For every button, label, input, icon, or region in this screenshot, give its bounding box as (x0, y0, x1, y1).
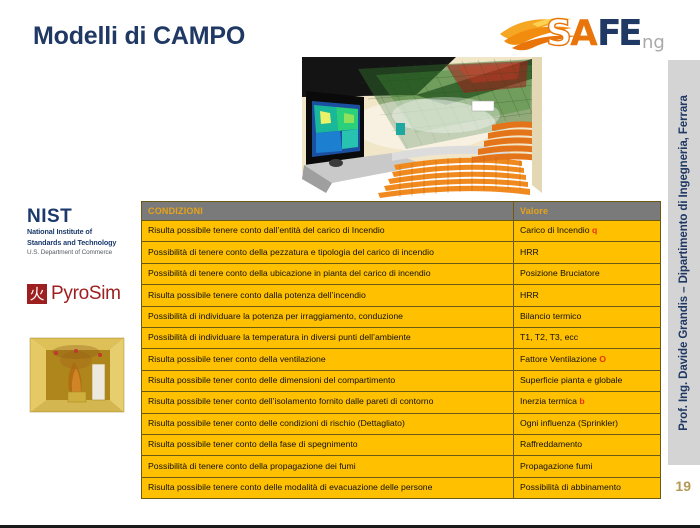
cell-condizione: Risulta possibile tener conto delle dime… (142, 370, 514, 391)
cell-valore: Possibilità di abbinamento (514, 477, 661, 498)
cell-valore: Superficie pianta e globale (514, 370, 661, 391)
page-title: Modelli di CAMPO (33, 22, 245, 51)
table-row: Risulta possibile tener conto delle dime… (142, 370, 661, 391)
nist-subtitle-line1: National Institute of (27, 228, 139, 237)
nist-subtitle-line2: Standards and Technology (27, 239, 139, 248)
value-highlight: O (599, 354, 606, 364)
svg-text:S: S (546, 13, 572, 54)
value-highlight: b (579, 396, 584, 406)
cell-valore: HRR (514, 285, 661, 306)
table-row: Risulta possibile tenere conto delle mod… (142, 477, 661, 498)
table-row: Risulta possibile tener conto delle cond… (142, 413, 661, 434)
table-row: Possibilità di individuare la potenza pe… (142, 306, 661, 327)
cell-condizione: Possibilità di tenere conto della pezzat… (142, 242, 514, 263)
safe-logo: S A F E ng (498, 8, 670, 54)
cell-valore: Raffreddamento (514, 434, 661, 455)
cell-valore: Carico di Incendio q (514, 221, 661, 242)
table-row: Risulta possibile tener conto della fase… (142, 434, 661, 455)
value-highlight: q (592, 225, 597, 235)
cell-condizione: Risulta possibile tener conto delle cond… (142, 413, 514, 434)
cell-valore: HRR (514, 242, 661, 263)
pyrosim-wordmark: PyroSim (51, 283, 121, 305)
cell-condizione: Risulta possibile tener conto della fase… (142, 434, 514, 455)
svg-text:A: A (570, 13, 598, 54)
author-credit-text: Prof. Ing. Davide Grandis – Dipartimento… (678, 95, 690, 431)
fire-glyph-icon: 火 (27, 284, 47, 304)
nist-wordmark: NIST (27, 207, 139, 226)
column-header-condizioni: CONDIZIONI (142, 202, 514, 221)
nist-subtitle-line3: U.S. Department of Commerce (27, 249, 139, 257)
safe-wordmark: S A F E ng (546, 13, 665, 54)
svg-text:E: E (618, 13, 643, 54)
cell-valore: Bilancio termico (514, 306, 661, 327)
cell-condizione: Risulta possibile tenere conto delle mod… (142, 477, 514, 498)
pyrosim-logo: 火 PyroSim (27, 283, 121, 305)
cell-valore: Inerzia termica b (514, 392, 661, 413)
cell-condizione: Possibilità di individuare la temperatur… (142, 327, 514, 348)
cell-condizione: Risulta possibile tener conto dell’isola… (142, 392, 514, 413)
table-row: Possibilità di tenere conto della pezzat… (142, 242, 661, 263)
cell-condizione: Possibilità di tenere conto della propag… (142, 456, 514, 477)
table-row: Possibilità di tenere conto della propag… (142, 456, 661, 477)
table-row: Risulta possibile tenere conto dall’enti… (142, 221, 661, 242)
table-row: Risulta possibile tener conto dell’isola… (142, 392, 661, 413)
svg-text:ng: ng (642, 32, 665, 53)
cell-valore: T1, T2, T3, ecc (514, 327, 661, 348)
table-row: Possibilità di tenere conto della ubicaz… (142, 263, 661, 284)
conditions-table: CONDIZIONI Valore Risulta possibile tene… (141, 201, 661, 499)
auditorium-simulation-image (296, 53, 544, 199)
cell-condizione: Possibilità di tenere conto della ubicaz… (142, 263, 514, 284)
cell-valore: Fattore Ventilazione O (514, 349, 661, 370)
cell-condizione: Risulta possibile tenere conto dall’enti… (142, 221, 514, 242)
cell-condizione: Risulta possibile tener conto della vent… (142, 349, 514, 370)
page-number: 19 (675, 478, 691, 494)
table-row: Possibilità di individuare la temperatur… (142, 327, 661, 348)
table-row: Risulta possibile tener conto della vent… (142, 349, 661, 370)
cell-valore: Propagazione fumi (514, 456, 661, 477)
cell-condizione: Risulta possibile tenere conto dalla pot… (142, 285, 514, 306)
column-header-valore: Valore (514, 202, 661, 221)
author-sidebar: Prof. Ing. Davide Grandis – Dipartimento… (668, 60, 700, 465)
cell-valore: Posizione Bruciatore (514, 263, 661, 284)
slide-canvas: Modelli di CAMPO S A F E ng (0, 0, 700, 528)
cell-valore: Ogni influenza (Sprinkler) (514, 413, 661, 434)
table-header-row: CONDIZIONI Valore (142, 202, 661, 221)
compartment-fire-model-image (18, 326, 136, 424)
table-row: Risulta possibile tenere conto dalla pot… (142, 285, 661, 306)
nist-logo: NIST National Institute of Standards and… (27, 207, 139, 256)
cell-condizione: Possibilità di individuare la potenza pe… (142, 306, 514, 327)
table-body: Risulta possibile tenere conto dall’enti… (142, 221, 661, 499)
